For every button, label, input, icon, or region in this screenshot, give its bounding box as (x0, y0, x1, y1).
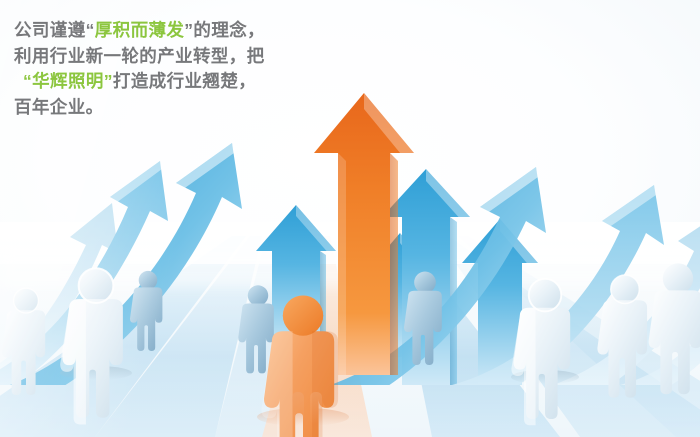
caption-segment-1-2: “ (86, 20, 95, 40)
person-edge-right (649, 263, 700, 394)
person-center-left (238, 285, 274, 373)
caption-line-3: “华辉照明”打造成行业翘楚， (14, 69, 374, 95)
person-center-right (404, 272, 442, 365)
orange-reflection (258, 392, 368, 437)
person-far-left-small (2, 288, 45, 395)
caption-segment-1-3: 厚积而薄发 (95, 20, 185, 40)
caption-segment-3-4: 打造成行业翘楚， (113, 71, 256, 91)
caption-segment-4-1: 百年企业。 (14, 97, 104, 117)
caption-line-2: 利用行业新一轮的产业转型，把 (14, 44, 374, 70)
caption-line-1: 公司谨遵“厚积而薄发”的理念， (14, 18, 374, 44)
caption-line-4: 百年企业。 (14, 95, 374, 121)
caption-block: 公司谨遵“厚积而薄发”的理念，利用行业新一轮的产业转型，把“华辉照明”打造成行业… (14, 18, 374, 120)
caption-segment-3-1: “ (23, 71, 32, 91)
person-far-right (597, 275, 647, 398)
caption-segment-3-3: ” (104, 71, 113, 91)
banner-image: 公司谨遵“厚积而薄发”的理念，利用行业新一轮的产业转型，把“华辉照明”打造成行业… (0, 0, 700, 437)
caption-segment-1-5: 的理念， (193, 20, 265, 40)
caption-segment-2-1: 利用行业新一轮的产业转型，把 (14, 46, 265, 66)
person-right-large (511, 279, 570, 425)
caption-segment-1-1: 公司谨遵 (14, 20, 86, 40)
caption-segment-3-2: 华辉照明 (32, 71, 104, 91)
person-left-large (60, 268, 123, 424)
person-left-mid (130, 271, 162, 351)
